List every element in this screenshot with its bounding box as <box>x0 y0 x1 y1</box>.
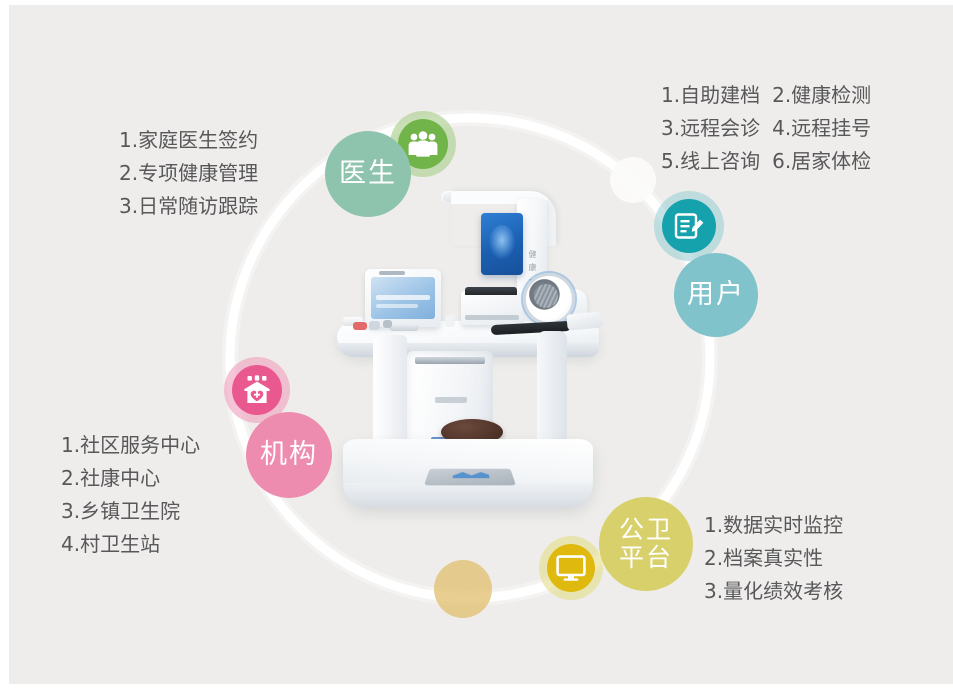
node-label-organization[interactable]: 机构 <box>246 412 332 498</box>
organization-item: 2.社康中心 <box>61 462 200 495</box>
user-item: 3.远程会诊 <box>661 116 760 140</box>
device-tablet-screen-row <box>376 304 418 308</box>
text-block-user: 1.自助建档2.健康检测 3.远程会诊4.远程挂号 5.线上咨询6.居家体检 <box>661 79 871 178</box>
node-label-platform[interactable]: 公卫 平台 <box>599 497 693 591</box>
device-display-glow <box>489 225 515 259</box>
device-printer-slot <box>465 315 519 320</box>
device-tablet-brand <box>379 271 405 275</box>
user-item: 2.健康检测 <box>772 83 871 107</box>
platform-label-line2: 平台 <box>619 543 673 572</box>
device-accessory <box>369 321 380 330</box>
device-printer-top <box>465 287 517 295</box>
monitor-icon[interactable] <box>547 544 595 592</box>
ring-decoration-tan-dot <box>434 560 492 618</box>
organization-item: 4.村卫生站 <box>61 528 200 561</box>
platform-item: 2.档案真实性 <box>704 542 843 575</box>
user-item: 1.自助建档 <box>661 83 760 107</box>
text-block-platform: 1.数据实时监控 2.档案真实性 3.量化绩效考核 <box>704 509 843 608</box>
clipboard-pen-icon[interactable] <box>662 199 716 253</box>
user-row: 1.自助建档2.健康检测 <box>661 79 871 112</box>
device-blood-pressure-cuff <box>534 284 558 308</box>
organization-item: 3.乡镇卫生院 <box>61 495 200 528</box>
node-label-user[interactable]: 用户 <box>674 253 758 337</box>
infographic-stage: 健康一体机 <box>0 0 953 697</box>
user-item: 6.居家体检 <box>772 149 871 173</box>
device-cabinet-slot <box>415 357 485 364</box>
device-tablet-stand <box>389 325 419 331</box>
device-accessory <box>383 320 392 328</box>
platform-item: 1.数据实时监控 <box>704 509 843 542</box>
doctor-item: 2.专项健康管理 <box>119 157 258 190</box>
device-cabinet-badge <box>435 397 467 403</box>
user-row: 3.远程会诊4.远程挂号 <box>661 112 871 145</box>
clinic-house-icon[interactable] <box>232 365 282 415</box>
doctor-item: 1.家庭医生签约 <box>119 124 258 157</box>
device-accessory <box>353 322 367 330</box>
device-tablet-screen-row <box>376 295 430 300</box>
platform-label-line1: 公卫 <box>619 515 673 544</box>
text-block-doctor: 1.家庭医生签约 2.专项健康管理 3.日常随访跟踪 <box>119 124 258 223</box>
infographic-canvas: 健康一体机 <box>9 5 953 684</box>
user-item: 4.远程挂号 <box>772 116 871 140</box>
health-kiosk-device: 健康一体机 <box>331 191 621 525</box>
device-side-tray <box>566 311 603 330</box>
user-row: 5.线上咨询6.居家体检 <box>661 145 871 178</box>
device-accessory <box>445 315 455 327</box>
text-block-organization: 1.社区服务中心 2.社康中心 3.乡镇卫生院 4.村卫生站 <box>61 429 200 561</box>
device-base-front <box>343 483 593 507</box>
user-item: 5.线上咨询 <box>661 149 760 173</box>
node-label-doctor[interactable]: 医生 <box>325 131 411 217</box>
platform-item: 3.量化绩效考核 <box>704 575 843 608</box>
organization-item: 1.社区服务中心 <box>61 429 200 462</box>
doctor-item: 3.日常随访跟踪 <box>119 190 258 223</box>
